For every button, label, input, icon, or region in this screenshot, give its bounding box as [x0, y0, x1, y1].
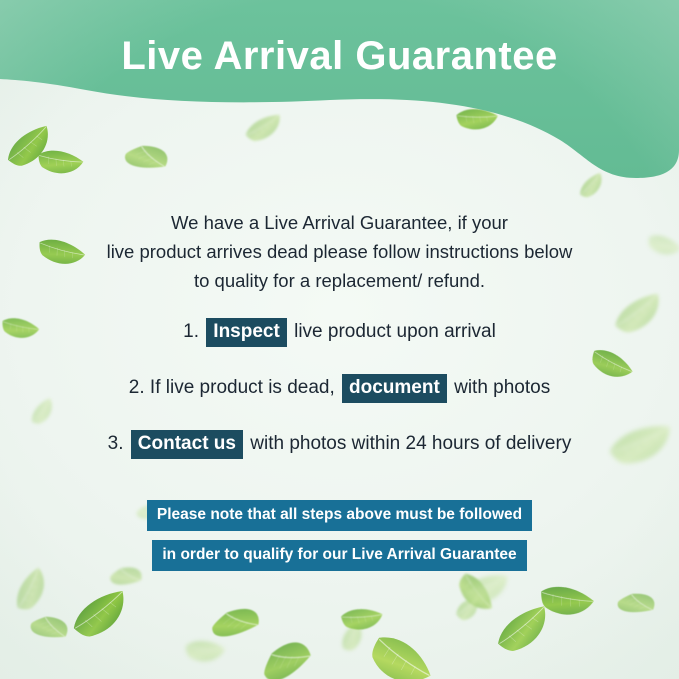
steps-list: 1. Inspect live product upon arrival 2. …: [0, 318, 679, 486]
intro-paragraph: We have a Live Arrival Guarantee, if you…: [40, 208, 640, 295]
step-3-highlight-contact-us: Contact us: [131, 430, 243, 459]
page-title: Live Arrival Guarantee: [0, 30, 679, 82]
footer-note-row-2: in order to qualify for our Live Arrival…: [0, 540, 679, 571]
intro-line-3: to quality for a replacement/ refund.: [40, 266, 640, 295]
step-1-number: 1.: [183, 321, 199, 342]
footer-note-line-2: in order to qualify for our Live Arrival…: [152, 540, 526, 571]
footer-notes: Please note that all steps above must be…: [0, 500, 679, 580]
step-3-text-after: with photos within 24 hours of delivery: [250, 433, 571, 454]
step-1-text-after: live product upon arrival: [294, 321, 496, 342]
step-item-3: 3. Contact us with photos within 24 hour…: [0, 430, 679, 459]
step-item-2: 2. If live product is dead, document wit…: [0, 374, 679, 403]
step-3-number: 3.: [108, 433, 124, 454]
step-1-highlight-inspect: Inspect: [206, 318, 287, 347]
intro-line-1: We have a Live Arrival Guarantee, if you…: [40, 208, 640, 237]
poster-content: We have a Live Arrival Guarantee, if you…: [0, 0, 679, 679]
step-item-1: 1. Inspect live product upon arrival: [0, 318, 679, 347]
footer-note-line-1: Please note that all steps above must be…: [147, 500, 532, 531]
intro-line-2: live product arrives dead please follow …: [40, 237, 640, 266]
step-2-highlight-document: document: [342, 374, 447, 403]
step-2-text-before: If live product is dead,: [150, 377, 335, 398]
live-arrival-guarantee-poster: Live Arrival Guarantee We have a Live Ar…: [0, 0, 679, 679]
footer-note-row-1: Please note that all steps above must be…: [0, 500, 679, 531]
step-2-number: 2.: [129, 377, 145, 398]
step-2-text-after: with photos: [454, 377, 550, 398]
